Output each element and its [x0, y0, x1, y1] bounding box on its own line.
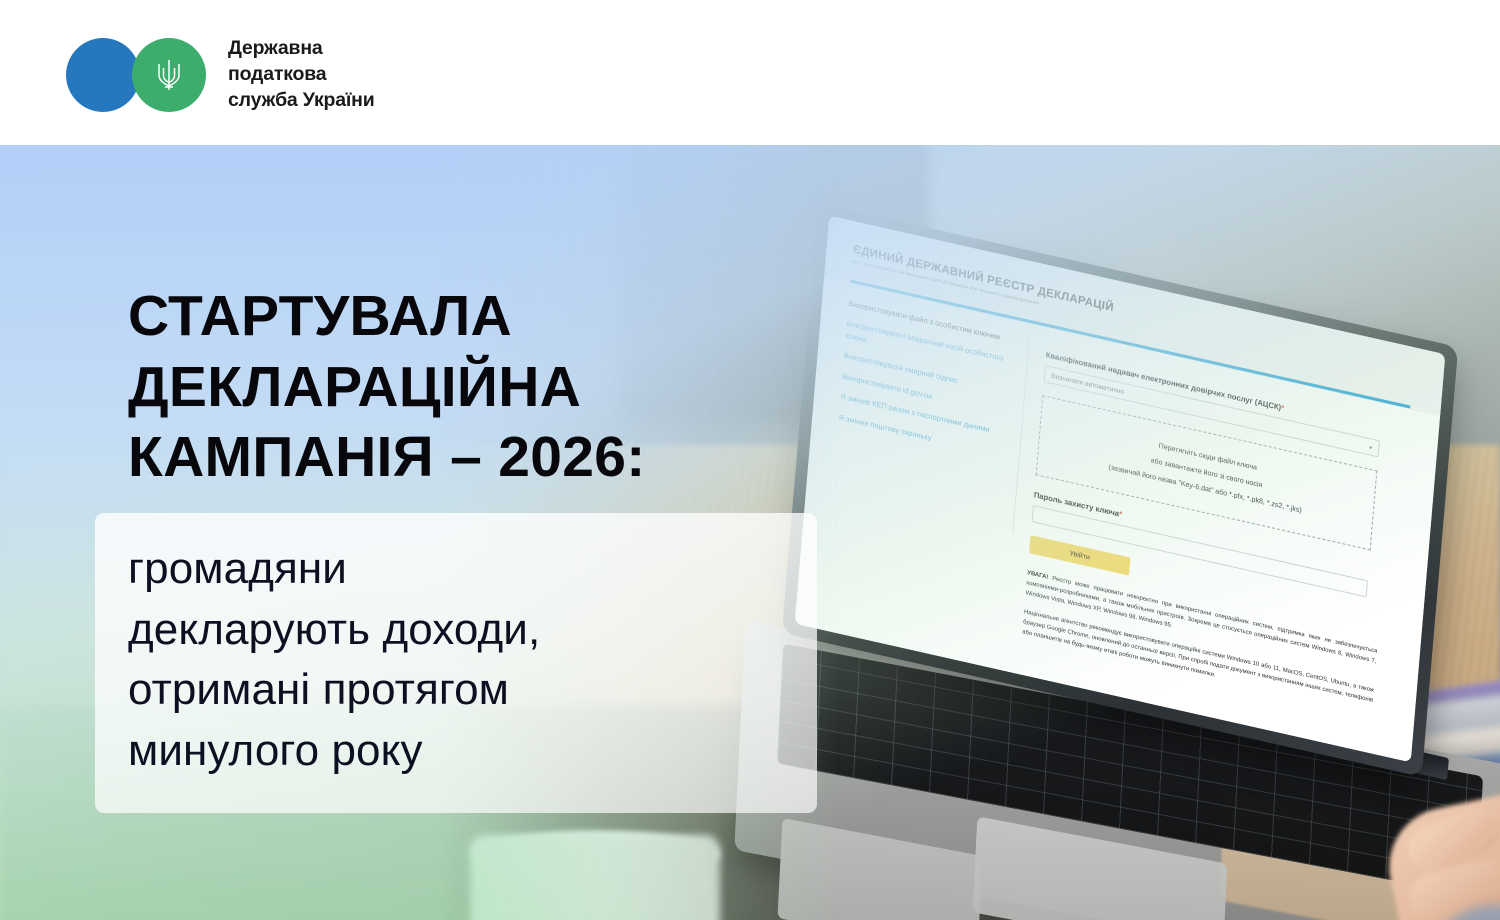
chevron-down-icon: ▾: [1369, 444, 1373, 452]
laptop: ЄДИНИЙ ДЕРЖАВНИЙ РЕЄСТР ДЕКЛАРАЦІЙ осіб,…: [760, 255, 1500, 920]
provider-required-mark: *: [1281, 403, 1285, 413]
headline: СТАРТУВАЛА ДЕКЛАРАЦІЙНА КАМПАНІЯ – 2026:: [128, 281, 828, 493]
ukraine-trident-icon: [154, 56, 184, 94]
warning-prefix: УВАГА!: [1027, 570, 1049, 581]
promo-banner: Державна податкова служба України: [0, 0, 1500, 920]
subheadline: громадяни декларують доходи, отримані пр…: [128, 539, 818, 782]
logo-blue-circle-icon: [66, 38, 140, 112]
coffee-mug: [470, 835, 720, 920]
login-form: Кваліфікований надавач електронних довір…: [1021, 350, 1414, 729]
provider-select-value: Визначати автоматично: [1051, 373, 1125, 396]
page-header: Державна податкова служба України: [0, 0, 1500, 145]
organization-name: Державна податкова служба України: [228, 36, 375, 114]
login-button[interactable]: Увійти: [1029, 535, 1131, 576]
login-method-sidebar: Використовувати файл з особистим ключем …: [837, 298, 1023, 472]
password-required-mark: *: [1119, 509, 1123, 519]
organization-logo: Державна податкова служба України: [66, 36, 375, 114]
logo-green-circle-icon: [132, 38, 206, 112]
